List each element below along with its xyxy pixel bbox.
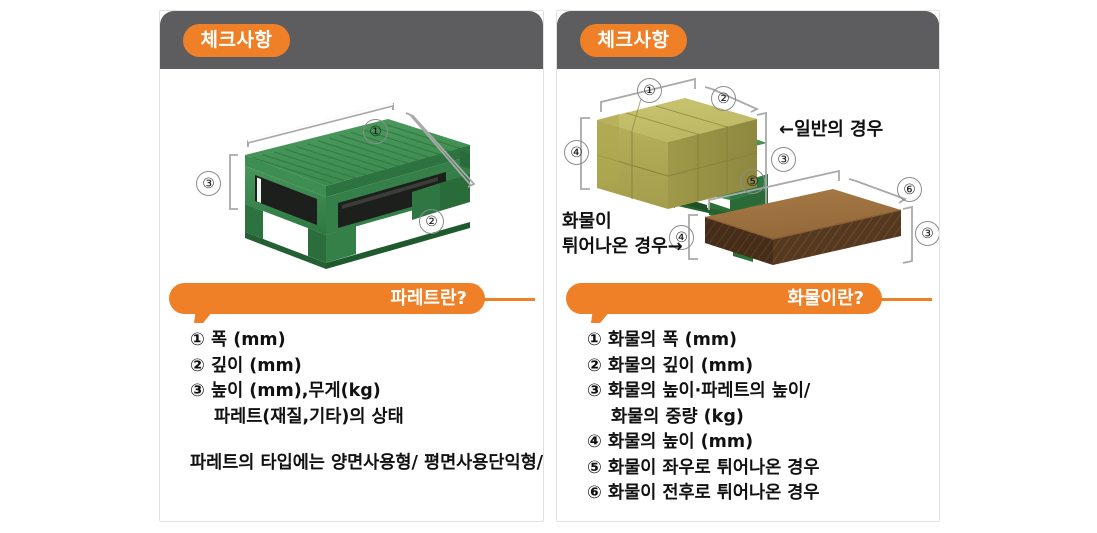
list-item: ②깊이 (mm) <box>190 354 404 380</box>
panel-header-cargo: 체크사항 <box>557 11 939 69</box>
list-item-number: ③ <box>587 379 608 405</box>
check-badge-label: 체크사항 <box>598 31 670 50</box>
list-item-number: ③ <box>190 379 211 405</box>
list-item-text: 화물이 전후로 튀어나온 경우 <box>608 483 819 503</box>
list-item: ①폭 (mm) <box>190 328 404 354</box>
list-pallet: ①폭 (mm) ②깊이 (mm) ③높이 (mm),무게(kg) 파레트(재질,… <box>190 328 404 430</box>
callout-bubble-cargo: 화물이란? <box>566 283 882 314</box>
marker-2-cargo: ② <box>711 86 736 111</box>
list-item-number: ② <box>587 354 608 380</box>
list-item: ③높이 (mm),무게(kg) <box>190 379 404 405</box>
list-item-text: 화물이 좌우로 튀어나온 경우 <box>608 458 819 478</box>
list-item: ④화물의 높이 (mm) <box>587 430 819 456</box>
label-overhang-line1: 화물이 <box>562 209 683 234</box>
marker-1-cargo: ① <box>637 78 662 103</box>
list-item-text: 깊이 (mm) <box>211 356 302 376</box>
marker-4-cargo-top: ④ <box>564 140 589 165</box>
callout-rule <box>479 298 535 301</box>
list-item-text: 화물의 높이·파레트의 높이/ <box>608 381 810 401</box>
page-root: 체크사항 <box>0 0 1097 533</box>
callout-pallet: 파레트란? <box>169 283 535 317</box>
list-item-number: ④ <box>587 430 608 456</box>
list-item-text: 화물의 깊이 (mm) <box>608 356 753 376</box>
note-line: 파레트의 타입에는 양면사용형/ <box>190 453 418 473</box>
label-overhang-case: 화물이 튀어나온 경우→ <box>562 209 683 259</box>
list-item-text: 화물의 중량 (kg) <box>611 407 744 427</box>
marker-3-cargo-bottom: ③ <box>915 221 940 246</box>
label-overhang-line2: 튀어나온 경우→ <box>562 234 683 259</box>
callout-rule <box>876 298 932 301</box>
marker-6-cargo: ⑥ <box>897 177 922 202</box>
note-pallet: 파레트의 타입에는 양면사용형/ 평면사용단익형/사방 꽂이형/평면형/ 스키트… <box>190 451 544 477</box>
list-item: 화물의 중량 (kg) <box>587 405 819 431</box>
check-badge-pallet: 체크사항 <box>183 24 290 57</box>
list-item-number: ① <box>190 328 211 354</box>
list-item-text: 폭 (mm) <box>211 330 286 350</box>
check-badge-label: 체크사항 <box>201 31 273 50</box>
note-line: 평면사용단익형/사방 꽂이형/평면형/ <box>424 453 544 473</box>
marker-3-pallet: ③ <box>196 171 221 196</box>
callout-title-cargo: 화물이란? <box>787 290 864 308</box>
list-item: ②화물의 깊이 (mm) <box>587 354 819 380</box>
list-item-text: 화물의 폭 (mm) <box>608 330 737 350</box>
illustration-pallet: ① ② ③ <box>160 69 543 283</box>
list-item-number: ⑤ <box>587 456 608 482</box>
illustration-cargo: ① ② ④ ③ ⑤ ⑥ ④ ③ ←일반의 경우 화물이 튀어나온 경우→ <box>557 69 939 283</box>
list-cargo: ①화물의 폭 (mm) ②화물의 깊이 (mm) ③화물의 높이·파레트의 높이… <box>587 328 819 507</box>
callout-title-pallet: 파레트란? <box>390 290 467 308</box>
list-item-number: ② <box>190 354 211 380</box>
callout-tail-icon <box>194 310 214 323</box>
list-item: ⑤화물이 좌우로 튀어나온 경우 <box>587 456 819 482</box>
list-item: ⑥화물이 전후로 튀어나온 경우 <box>587 481 819 507</box>
list-item: 파레트(재질,기타)의 상태 <box>190 405 404 431</box>
list-item-number: ⑥ <box>587 481 608 507</box>
callout-cargo: 화물이란? <box>566 283 932 317</box>
list-item-text: 화물의 높이 (mm) <box>608 432 753 452</box>
callout-tail-icon <box>591 310 611 323</box>
marker-3-cargo-top: ③ <box>771 147 796 172</box>
marker-1-pallet: ① <box>363 119 388 144</box>
check-badge-cargo: 체크사항 <box>580 24 687 57</box>
marker-2-pallet: ② <box>419 209 444 234</box>
label-normal-case: ←일반의 경우 <box>779 117 883 142</box>
list-item-text: 파레트(재질,기타)의 상태 <box>214 407 404 427</box>
marker-5-cargo: ⑤ <box>740 169 765 194</box>
callout-bubble-pallet: 파레트란? <box>169 283 485 314</box>
panel-header-pallet: 체크사항 <box>160 11 543 69</box>
panel-cargo: 체크사항 <box>556 10 940 522</box>
list-item: ①화물의 폭 (mm) <box>587 328 819 354</box>
panel-pallet: 체크사항 <box>159 10 544 522</box>
list-item-number: ① <box>587 328 608 354</box>
list-item-text: 높이 (mm),무게(kg) <box>211 381 381 401</box>
list-item: ③화물의 높이·파레트의 높이/ <box>587 379 819 405</box>
